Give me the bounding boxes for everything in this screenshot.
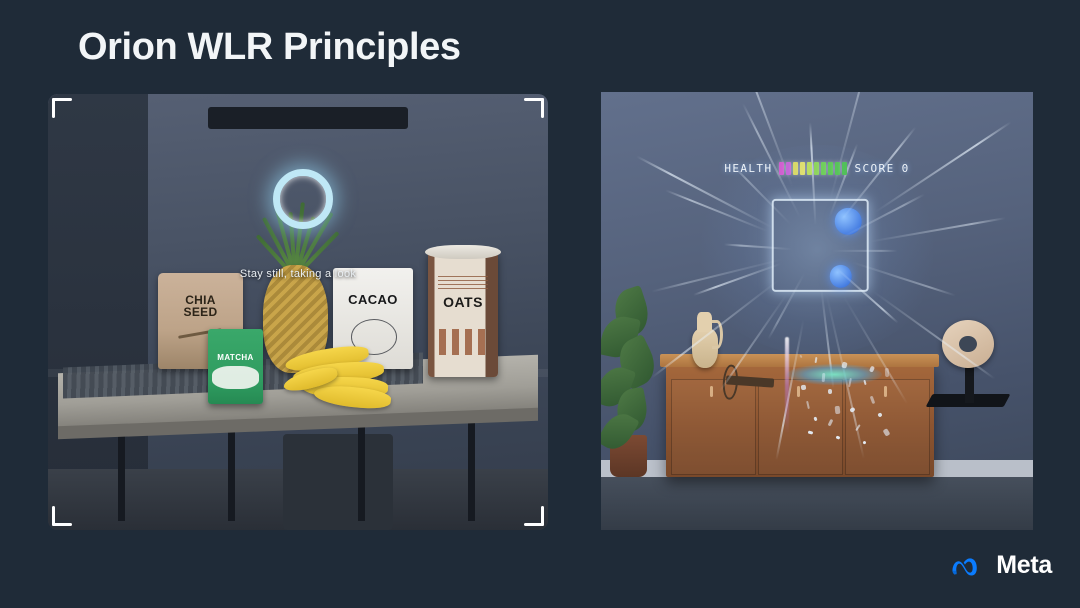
matcha-band <box>212 366 258 388</box>
score-label: SCORE <box>854 162 894 175</box>
particle <box>808 430 813 434</box>
scan-status-caption: Stay still, taking a look <box>48 268 548 280</box>
loading-ring-icon <box>273 169 333 229</box>
particle <box>800 384 805 390</box>
particle-spray <box>800 355 895 451</box>
particle <box>821 373 824 382</box>
score-value: 0 <box>902 162 910 175</box>
particle <box>870 396 875 404</box>
particle <box>828 419 833 426</box>
health-segment <box>800 162 805 175</box>
chia-seed-label: CHIA SEED <box>158 294 243 319</box>
oats-label: OATS <box>428 294 498 310</box>
sculpture-stand <box>965 364 974 403</box>
table-leg <box>118 425 125 521</box>
bananas <box>283 343 403 408</box>
particle <box>834 406 839 414</box>
cabinet-knob <box>710 386 713 397</box>
table-leg <box>358 425 365 521</box>
left-demo-panel[interactable]: CHIA SEED CACAO OATS MATCHA Stay still, … <box>48 94 548 530</box>
particle <box>813 417 817 422</box>
particle <box>885 368 889 377</box>
oats-cup-icons <box>439 329 487 354</box>
table-leg <box>468 421 475 521</box>
health-label: HEALTH <box>724 162 772 175</box>
energy-beam <box>785 337 789 433</box>
cacao-label: CACAO <box>333 292 413 307</box>
table-leg <box>228 430 235 522</box>
portal-effect <box>692 145 943 355</box>
health-segment <box>842 162 847 175</box>
slide-root: Orion WLR Principles CHIA SEED <box>0 0 1080 608</box>
potted-plant <box>601 285 657 478</box>
particle <box>842 361 848 368</box>
chia-seed-label-line2: SEED <box>184 305 218 319</box>
health-segment <box>835 162 840 175</box>
chair <box>283 434 393 530</box>
oats-lid <box>425 245 501 259</box>
health-segment <box>807 162 812 175</box>
portal-streak <box>833 250 898 252</box>
health-segment <box>779 162 784 175</box>
particle <box>828 389 832 394</box>
particle <box>835 435 839 439</box>
meta-wordmark: Meta <box>996 551 1052 580</box>
right-demo-panel[interactable]: HEALTH SCORE 0 <box>601 92 1033 530</box>
health-bar <box>779 162 847 175</box>
particle <box>849 407 855 413</box>
particle <box>883 428 890 436</box>
health-segment <box>814 162 819 175</box>
health-segment <box>786 162 791 175</box>
particle <box>869 366 875 373</box>
game-room-floor <box>601 477 1033 530</box>
meta-brand-logo: Meta <box>949 551 1052 580</box>
room-side-wall <box>48 94 148 530</box>
matcha-box: MATCHA <box>208 329 263 403</box>
particle <box>863 440 867 444</box>
blue-orb <box>830 264 853 287</box>
health-segment <box>793 162 798 175</box>
particle <box>814 357 816 363</box>
game-hud: HEALTH SCORE 0 <box>601 162 1033 175</box>
particle <box>799 355 802 358</box>
meta-infinity-icon <box>949 555 987 577</box>
particle <box>855 424 860 431</box>
matcha-label: MATCHA <box>208 353 263 362</box>
health-segment <box>828 162 833 175</box>
particle <box>848 378 851 387</box>
particle <box>877 412 882 417</box>
cabinet-door <box>671 379 756 474</box>
page-title: Orion WLR Principles <box>78 26 461 69</box>
health-segment <box>821 162 826 175</box>
wall-shelf <box>208 107 408 129</box>
particle <box>806 401 809 409</box>
donut-hole <box>959 336 977 352</box>
particle <box>864 380 867 385</box>
